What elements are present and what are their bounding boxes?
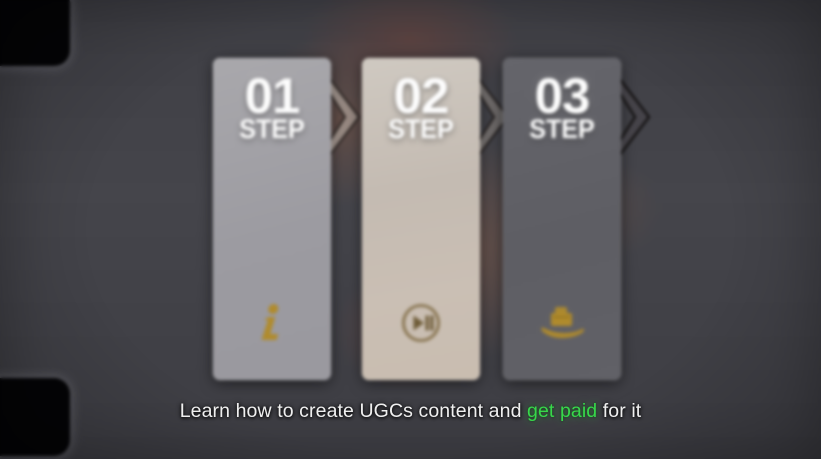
step-number-block: 01 STEP <box>213 74 331 143</box>
step-card-02[interactable]: 02 STEP <box>362 58 480 380</box>
step-number-block: 03 STEP <box>503 74 621 143</box>
caption-after: for it <box>597 400 641 422</box>
step-number-block: 02 STEP <box>362 74 480 143</box>
step-card-face: 03 STEP <box>503 58 621 380</box>
step-label: STEP <box>507 116 617 143</box>
step-label: STEP <box>366 116 476 143</box>
step-label: STEP <box>217 116 327 143</box>
step-card-03[interactable]: 03 STEP <box>503 58 621 380</box>
money-in-hand-icon <box>503 300 621 346</box>
caption-highlight: get paid <box>527 400 597 422</box>
video-frame: 01 STEP <box>0 0 821 459</box>
chevron-right-icon <box>619 76 659 158</box>
play-pause-circle-icon <box>362 300 480 346</box>
step-card-01[interactable]: 01 STEP <box>213 58 331 380</box>
steps-row: 01 STEP <box>0 0 821 459</box>
step-number: 02 <box>362 74 480 118</box>
info-icon <box>213 300 331 346</box>
step-card-face: 01 STEP <box>213 58 331 380</box>
caption-before: Learn how to create UGCs content and <box>180 400 527 422</box>
step-number: 03 <box>503 74 621 118</box>
caption-subtitle: Learn how to create UGCs content and get… <box>0 400 821 423</box>
step-number: 01 <box>213 74 331 118</box>
step-card-face: 02 STEP <box>362 58 480 380</box>
